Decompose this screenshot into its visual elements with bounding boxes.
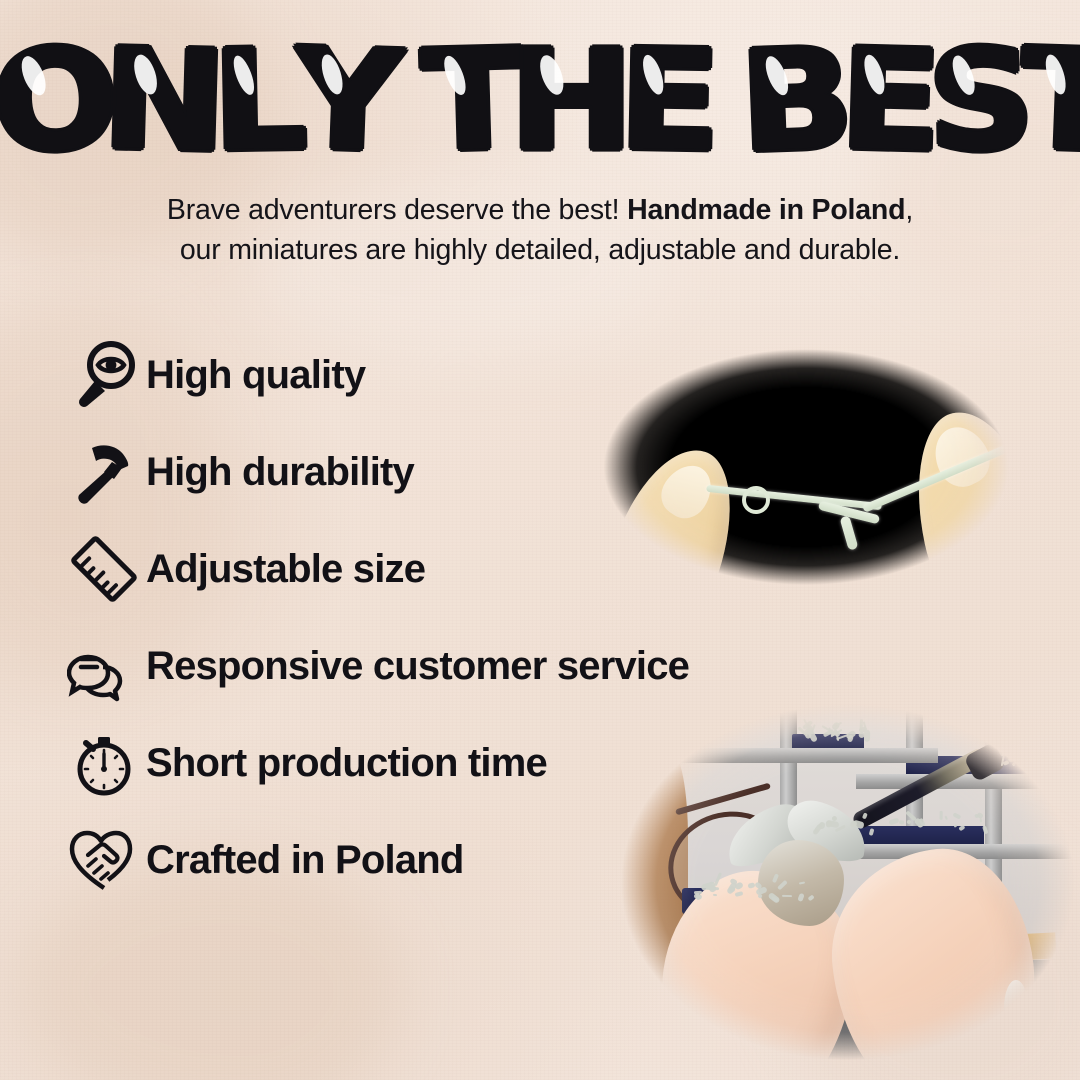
torn-edge-speck xyxy=(1045,390,1053,398)
torn-edge-speck xyxy=(873,614,876,616)
miniature-part-ring xyxy=(742,486,770,514)
shelf-board xyxy=(856,774,1076,789)
torn-edge-speck xyxy=(591,464,599,472)
torn-edge-speck xyxy=(885,343,893,351)
torn-edge-speck xyxy=(1049,530,1055,536)
torn-edge-speck xyxy=(789,590,797,598)
torn-edge-speck xyxy=(811,350,818,357)
list-item-label: Responsive customer service xyxy=(146,646,689,686)
torn-edge-speck xyxy=(584,605,587,608)
torn-edge-speck xyxy=(712,593,717,598)
headline-letter: Y xyxy=(292,31,403,173)
torn-edge-speck xyxy=(1031,321,1040,330)
torn-edge-speck xyxy=(751,324,757,330)
torn-edge-speck xyxy=(899,604,904,609)
torn-edge-speck xyxy=(589,379,598,388)
torn-edge-speck xyxy=(593,605,595,607)
torn-edge-speck xyxy=(811,319,814,322)
torn-edge-speck xyxy=(1026,367,1034,375)
torn-edge-speck xyxy=(646,324,652,330)
torn-edge-speck xyxy=(1050,463,1056,470)
torn-edge-speck xyxy=(705,337,714,346)
torn-edge-speck xyxy=(995,590,1001,596)
torn-edge-speck xyxy=(593,493,599,499)
torn-edge-speck xyxy=(1029,587,1032,590)
torn-edge-speck xyxy=(589,500,598,509)
torn-edge-speck xyxy=(836,333,844,341)
torn-edge-speck xyxy=(758,592,765,599)
torn-edge-speck xyxy=(936,320,941,325)
torn-edge-speck xyxy=(652,587,657,592)
torn-edge-speck xyxy=(794,612,799,616)
torn-edge-speck xyxy=(608,340,615,347)
torn-edge-speck xyxy=(1045,412,1048,415)
torn-edge-speck xyxy=(1024,388,1029,393)
torn-edge-speck xyxy=(573,351,578,356)
headline-letter: N xyxy=(100,31,227,172)
miniature-sprue xyxy=(979,818,981,822)
torn-edge-speck xyxy=(1023,476,1026,479)
torn-edge-speck xyxy=(1043,597,1048,602)
torn-edge-speck xyxy=(1036,584,1045,593)
list-item-label: Adjustable size xyxy=(146,549,425,589)
torn-edge-speck xyxy=(1037,463,1045,471)
torn-edge-speck xyxy=(842,615,851,616)
subtitle-emphasis: Handmade in Poland xyxy=(627,194,905,226)
torn-edge-speck xyxy=(1029,424,1032,427)
torn-edge-speck xyxy=(928,585,933,590)
torn-edge-speck xyxy=(557,468,561,472)
torn-edge-speck xyxy=(962,586,968,592)
torn-edge-speck xyxy=(1054,382,1056,385)
torn-edge-speck xyxy=(933,331,940,338)
miniature-sprue xyxy=(939,812,942,821)
torn-edge-speck xyxy=(649,611,654,616)
torn-edge-speck xyxy=(592,515,598,521)
torn-edge-speck xyxy=(558,441,562,445)
shelf-board xyxy=(680,748,938,763)
torn-edge-speck xyxy=(1029,374,1037,382)
torn-edge-speck xyxy=(805,350,812,357)
miniature-sprue xyxy=(825,820,831,828)
torn-edge-speck xyxy=(756,321,764,329)
handshake-heart-icon xyxy=(62,820,146,900)
torn-edge-speck xyxy=(1053,592,1056,599)
torn-edge-speck xyxy=(1021,595,1027,601)
torn-edge-speck xyxy=(1019,351,1025,357)
list-item-label: Crafted in Poland xyxy=(146,840,464,880)
list-item-label: Short production time xyxy=(146,743,547,783)
torn-edge-speck xyxy=(947,337,956,346)
flexible-miniature-photo xyxy=(556,318,1056,616)
torn-edge-speck xyxy=(765,598,768,601)
torn-edge-speck xyxy=(595,436,603,444)
torn-edge-speck xyxy=(1019,569,1024,574)
torn-edge-speck xyxy=(659,343,668,352)
torn-edge-speck xyxy=(1017,334,1024,341)
stopwatch-icon xyxy=(62,723,146,803)
torn-edge-speck xyxy=(871,324,878,331)
torn-edge-speck xyxy=(683,605,690,612)
torn-edge-speck xyxy=(625,588,633,596)
torn-edge-speck xyxy=(710,603,713,606)
torn-edge-speck xyxy=(1026,414,1034,422)
subtitle-line-2: our miniatures are highly detailed, adju… xyxy=(180,234,900,266)
list-item-label: High durability xyxy=(146,452,414,492)
torn-edge-speck xyxy=(571,589,577,595)
miniature-sprue xyxy=(1057,764,1064,769)
torn-edge-speck xyxy=(649,334,657,342)
torn-edge-speck xyxy=(967,608,973,614)
torn-edge-speck xyxy=(1049,613,1054,616)
hammer-icon xyxy=(62,432,146,512)
torn-edge-speck xyxy=(1044,487,1050,493)
workshop-painting-photo xyxy=(596,700,1080,1080)
headline-letter: B xyxy=(738,31,855,173)
torn-edge-speck xyxy=(1035,593,1041,599)
torn-edge-speck xyxy=(571,494,577,500)
torn-edge-speck xyxy=(565,568,568,571)
torn-edge-speck xyxy=(1036,536,1045,545)
subtitle-line-1: Brave adventurers deserve the best! Hand… xyxy=(167,194,913,226)
subtitle: Brave adventurers deserve the best! Hand… xyxy=(90,190,990,271)
torn-edge-speck xyxy=(566,554,572,560)
list-item-label: High quality xyxy=(146,355,365,395)
torn-edge-speck xyxy=(565,340,568,343)
torn-edge-speck xyxy=(883,602,886,605)
torn-edge-speck xyxy=(590,541,597,548)
torn-edge-speck xyxy=(739,584,742,587)
headline-letter: E xyxy=(617,32,720,172)
torn-edge-speck xyxy=(586,389,593,396)
torn-edge-speck xyxy=(1038,375,1042,379)
torn-edge-speck xyxy=(1046,338,1055,347)
torn-edge-speck xyxy=(776,337,783,344)
torn-edge-speck xyxy=(588,608,595,615)
torn-edge-speck xyxy=(864,339,867,342)
torn-edge-speck xyxy=(692,599,701,608)
magnifier-eye-icon xyxy=(62,335,146,415)
promo-poster: ONLYTHEBEST Brave adventurers deserve th… xyxy=(0,0,1080,1080)
torn-edge-speck xyxy=(1046,510,1051,515)
torn-edge-speck xyxy=(929,603,936,610)
page-title: ONLYTHEBEST xyxy=(0,38,1080,166)
torn-edge-speck xyxy=(1043,322,1052,331)
torn-edge-speck xyxy=(567,381,572,386)
torn-edge-speck xyxy=(584,350,589,355)
torn-edge-speck xyxy=(1048,473,1055,480)
miniature-sprue xyxy=(864,730,870,742)
torn-edge-speck xyxy=(566,439,569,442)
headline-letter: T xyxy=(1019,31,1080,172)
torn-edge-speck xyxy=(862,324,867,329)
torn-edge-speck xyxy=(637,344,642,349)
torn-edge-speck xyxy=(954,351,960,357)
white-miniature xyxy=(1004,980,1028,1026)
torn-edge-speck xyxy=(581,486,589,494)
headline-letter: H xyxy=(509,33,632,171)
torn-edge-speck xyxy=(699,594,704,599)
torn-edge-speck xyxy=(677,612,684,616)
ruler-icon xyxy=(62,529,146,609)
torn-edge-speck xyxy=(824,603,831,610)
speech-bubbles-icon xyxy=(62,626,146,706)
